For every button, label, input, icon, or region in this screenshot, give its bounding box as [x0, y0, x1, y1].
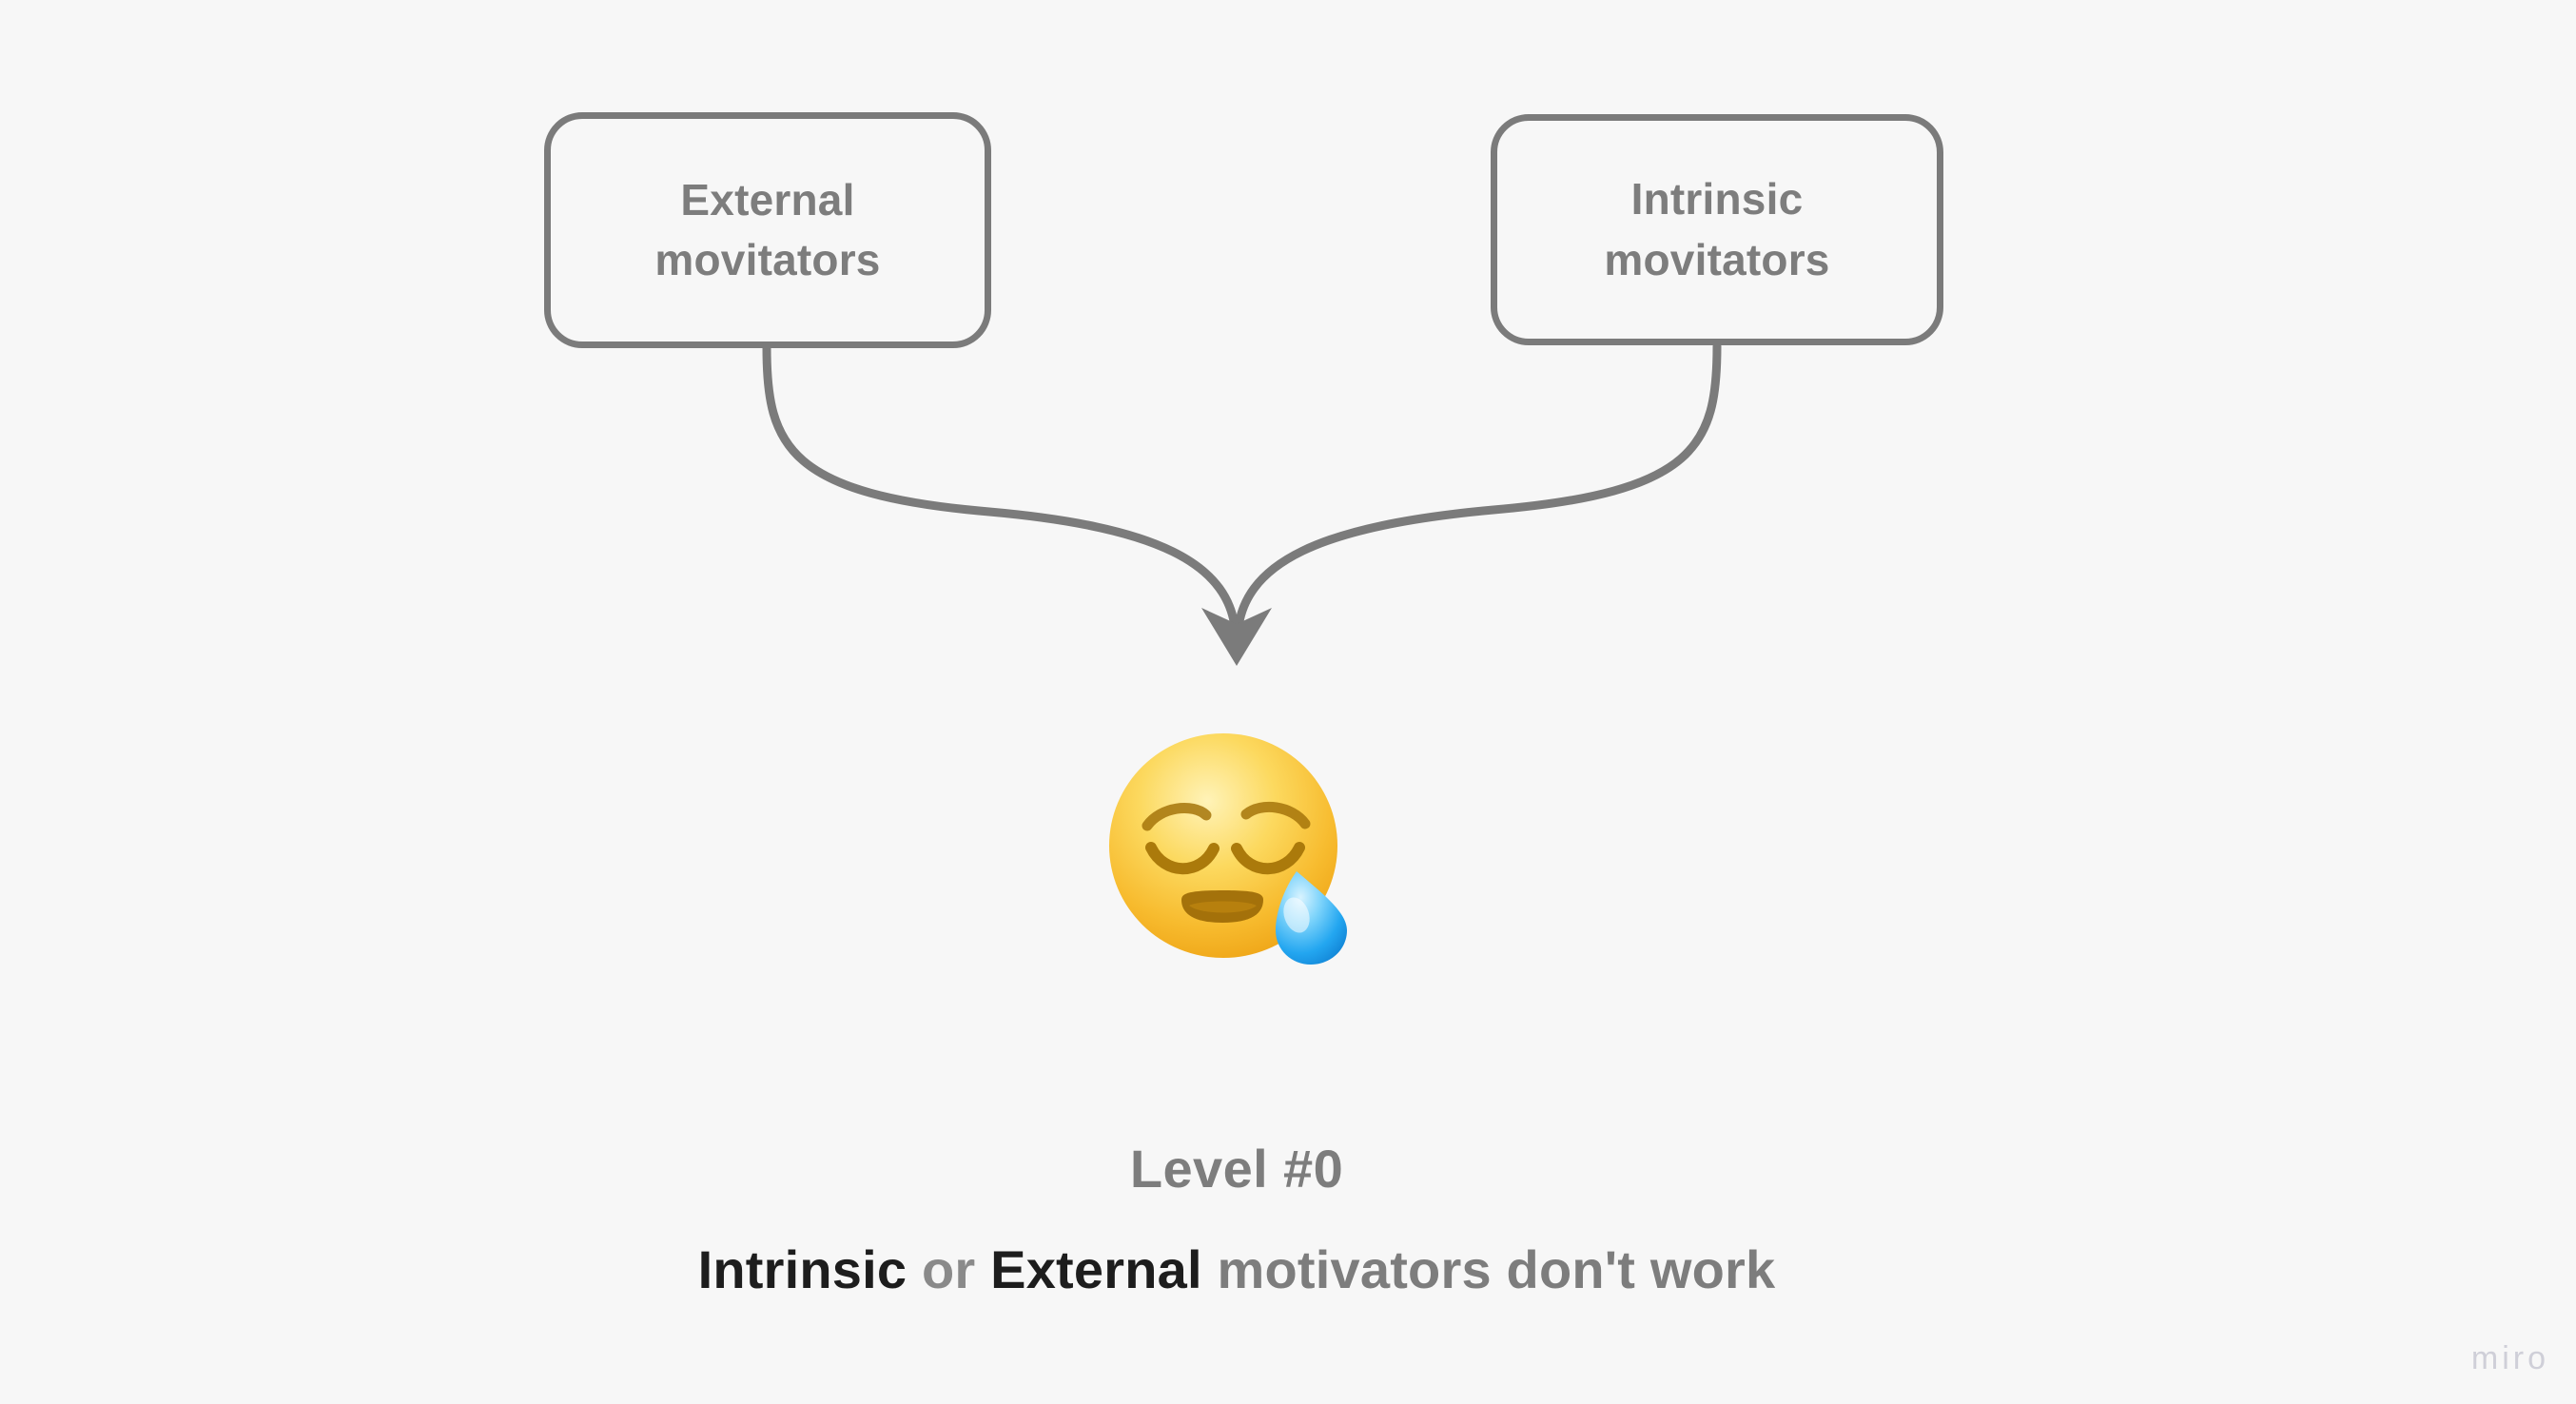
caption-word-external: External	[990, 1239, 1202, 1299]
miro-board-canvas[interactable]: External movitators Intrinsic movitators	[0, 0, 2576, 1404]
caption-tail-text: motivators don't work	[1218, 1239, 1776, 1299]
caption-level-label: Level #0	[0, 1138, 2473, 1200]
connector-external-to-outcome	[767, 348, 1236, 639]
shape-intrinsic-movitators-label: Intrinsic movitators	[1604, 169, 1829, 290]
caption-word-intrinsic: Intrinsic	[698, 1239, 907, 1299]
sleepy-face-emoji-art	[1102, 727, 1372, 968]
shape-external-movitators-label: External movitators	[654, 170, 880, 291]
caption-block: Level #0 Intrinsic or External motivator…	[0, 1138, 2473, 1301]
sleepy-face-emoji[interactable]	[1102, 727, 1372, 968]
caption-word-or: or	[922, 1239, 975, 1299]
connector-intrinsic-to-outcome	[1238, 346, 1717, 639]
shape-intrinsic-movitators[interactable]: Intrinsic movitators	[1491, 114, 1943, 345]
miro-watermark: miro	[2471, 1340, 2549, 1377]
arrowhead-icon	[1201, 608, 1272, 666]
caption-statement: Intrinsic or External motivators don't w…	[0, 1238, 2473, 1301]
shape-external-movitators[interactable]: External movitators	[544, 112, 991, 348]
